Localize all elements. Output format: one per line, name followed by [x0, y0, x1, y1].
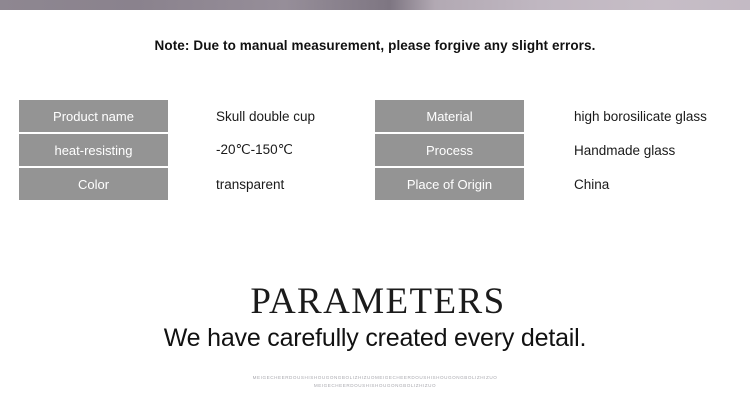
table-row: Process Handmade glass	[375, 134, 707, 166]
spec-value-place-of-origin: China	[524, 168, 609, 200]
top-gradient-banner	[0, 0, 750, 10]
spec-label-process: Process	[375, 134, 524, 166]
table-row: Material high borosilicate glass	[375, 100, 707, 132]
spec-value-heat-resisting: -20℃-150℃	[168, 134, 293, 166]
pinyin-line-2: MEIGECHEERDOUSHISHOUGONGBOLIZHIZUO	[0, 382, 750, 390]
spec-value-color: transparent	[168, 168, 284, 200]
spec-value-material: high borosilicate glass	[524, 100, 707, 132]
spec-label-color: Color	[19, 168, 168, 200]
page-title: PARAMETERS	[0, 283, 750, 322]
pinyin-watermark: MEIGECHEERDOUSHISHOUGONGBOLIZHIZUOMEIGEC…	[0, 374, 750, 390]
spec-label-heat-resisting: heat-resisting	[19, 134, 168, 166]
spec-label-product-name: Product name	[19, 100, 168, 132]
headline-subtitle: We have carefully created every detail.	[0, 324, 750, 353]
spec-value-product-name: Skull double cup	[168, 100, 315, 132]
headline-block: PARAMETERS We have carefully created eve…	[0, 283, 750, 353]
spec-label-place-of-origin: Place of Origin	[375, 168, 524, 200]
table-row: Place of Origin China	[375, 168, 707, 200]
table-row: Product name Skull double cup	[19, 100, 315, 132]
spec-table-left: Product name Skull double cup heat-resis…	[19, 100, 315, 202]
table-row: Color transparent	[19, 168, 315, 200]
spec-value-process: Handmade glass	[524, 134, 675, 166]
measurement-note: Note: Due to manual measurement, please …	[0, 38, 750, 53]
spec-label-material: Material	[375, 100, 524, 132]
spec-table-right: Material high borosilicate glass Process…	[375, 100, 707, 202]
table-row: heat-resisting -20℃-150℃	[19, 134, 315, 166]
pinyin-line-1: MEIGECHEERDOUSHISHOUGONGBOLIZHIZUOMEIGEC…	[0, 374, 750, 382]
